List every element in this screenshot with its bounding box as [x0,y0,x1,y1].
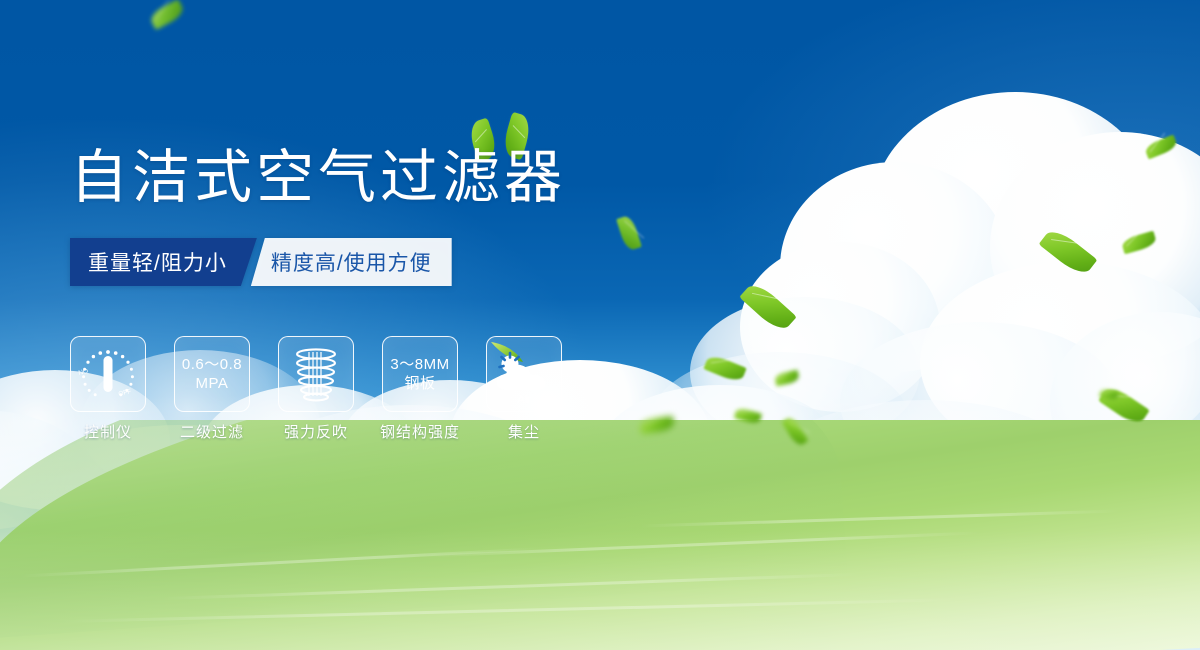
leaf-icon [739,279,797,334]
feature-item-steel[interactable]: 3～8MM 钢板 钢结构强度 [382,336,458,442]
feature-label: 集尘 [508,421,540,442]
feature-item-controller[interactable]: NO OFF 控制仪 [70,336,146,442]
feature-label: 二级过滤 [180,421,244,442]
feature-label: 强力反吹 [284,421,348,442]
steel-plate-text-icon: 3～8MM 钢板 [390,355,449,393]
leaf-icon [774,370,800,387]
sky-glow-right [700,0,1200,420]
feature-item-pressure[interactable]: 0.6～0.8 MPA 二级过滤 [174,336,250,442]
pressure-unit: MPA [182,374,242,393]
cloud-air-icon: Air [489,340,559,408]
product-banner: 自洁式空气过滤器 重量轻/阻力小 精度高/使用方便 [0,0,1200,650]
feature-label: 钢结构强度 [380,421,460,442]
pressure-text-icon: 0.6～0.8 MPA [182,355,242,393]
svg-text:OFF: OFF [118,388,132,398]
feature-box: 3～8MM 钢板 [382,336,458,412]
feature-box [278,336,354,412]
leaf-icon [148,0,186,30]
air-label: Air [517,394,531,406]
feature-item-dust[interactable]: Air 集尘 [486,336,562,442]
feature-item-backblow[interactable]: 强力反吹 [278,336,354,442]
svg-text:NO: NO [78,368,89,377]
pressure-value: 0.6～0.8 [182,355,242,374]
feature-box: Air [486,336,562,412]
leaf-icon [616,214,642,251]
feature-label: 控制仪 [84,421,132,442]
grass-field [0,420,1200,650]
grass-foreground-light [0,530,1200,650]
subtitle-segment-left: 重量轻/阻力小 [70,238,257,286]
feature-list: NO OFF 控制仪 0.6～0.8 MPA 二级过滤 [70,336,562,442]
gauge-icon: NO OFF [76,344,140,404]
leaf-icon [703,353,746,384]
leaf-icon [1121,231,1158,255]
page-title: 自洁式空气过滤器 [70,145,566,211]
filter-coil-icon [288,345,344,403]
feature-box: 0.6～0.8 MPA [174,336,250,412]
steel-material: 钢板 [390,374,449,393]
subtitle-bar: 重量轻/阻力小 精度高/使用方便 [70,238,452,286]
feature-box: NO OFF [70,336,146,412]
leaf-icon [1144,135,1179,160]
subtitle-segment-right: 精度高/使用方便 [251,238,452,286]
leaf-icon [1039,225,1098,278]
steel-thickness: 3～8MM [390,355,449,374]
